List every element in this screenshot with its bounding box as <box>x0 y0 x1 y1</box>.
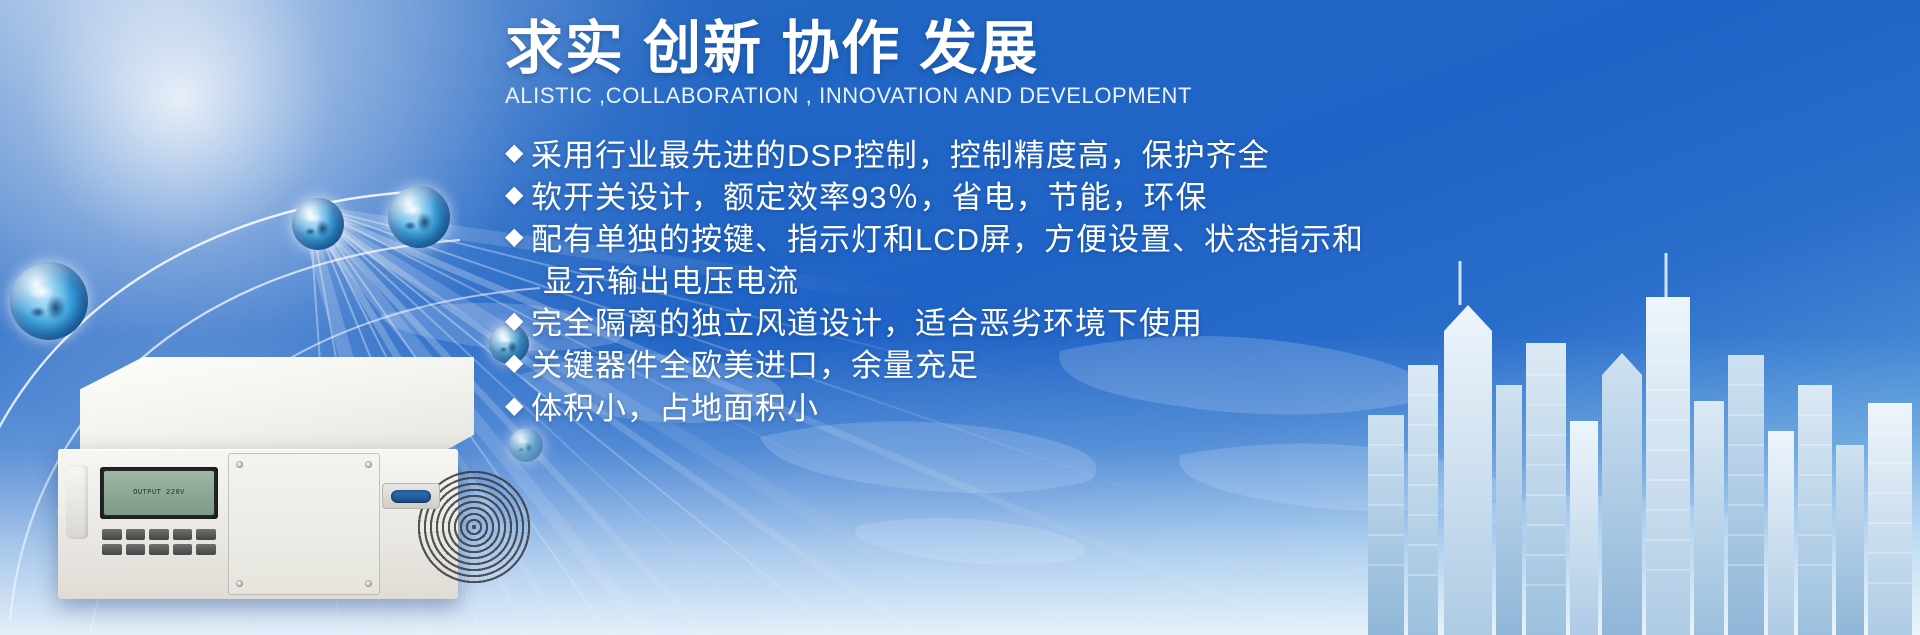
list-item-label: 配有单独的按键、指示灯和LCD屏，方便设置、状态指示和 <box>531 219 1364 261</box>
list-item: ◆完全隔离的独立风道设计，适合恶劣环境下使用 <box>505 303 1565 345</box>
list-item-label: 采用行业最先进的DSP控制，控制精度高，保护齐全 <box>531 135 1270 177</box>
keypad-key[interactable] <box>173 544 193 555</box>
list-item: ◆关键器件全欧美进口，余量充足 <box>505 345 1565 387</box>
list-item: ◆配有单独的按键、指示灯和LCD屏，方便设置、状态指示和 <box>505 219 1565 261</box>
list-item-label: 关键器件全欧美进口，余量充足 <box>531 345 979 387</box>
diamond-bullet-icon: ◆ <box>505 345 531 381</box>
diamond-bullet-icon: ◆ <box>505 219 531 255</box>
list-item: ◆显示输出电压电流 <box>505 261 1565 303</box>
keypad-key[interactable] <box>126 544 146 555</box>
keypad-key[interactable] <box>149 529 169 540</box>
keypad-key[interactable] <box>102 544 122 555</box>
screw-icon <box>236 580 243 587</box>
product-promo-banner: OUTPUT 220V 求实 创新 协作 发展 ALISTIC <box>0 0 1920 635</box>
list-item: ◆采用行业最先进的DSP控制，控制精度高，保护齐全 <box>505 135 1565 177</box>
keypad-key[interactable] <box>126 529 146 540</box>
list-item-label: 完全隔离的独立风道设计，适合恶劣环境下使用 <box>531 303 1203 345</box>
keypad[interactable] <box>102 529 216 555</box>
lcd-text: OUTPUT 220V <box>133 489 185 497</box>
feature-list: ◆采用行业最先进的DSP控制，控制精度高，保护齐全◆软开关设计，额定效率93％，… <box>505 135 1565 430</box>
page-subtitle: ALISTIC ,COLLABORATION , INNOVATION AND … <box>505 83 1565 109</box>
rackmount-power-device: OUTPUT 220V <box>58 357 478 607</box>
diamond-bullet-icon: ◆ <box>505 388 531 424</box>
list-item: ◆体积小，占地面积小 <box>505 388 1565 430</box>
banner-text-block: 求实 创新 协作 发展 ALISTIC ,COLLABORATION , INN… <box>505 18 1565 430</box>
globe-icon-mid <box>292 198 344 250</box>
globe-icon-top <box>388 186 450 248</box>
keypad-key[interactable] <box>196 544 216 555</box>
lcd-screen-bezel: OUTPUT 220V <box>100 467 218 519</box>
diamond-bullet-icon: ◆ <box>505 135 531 171</box>
keypad-key[interactable] <box>173 529 193 540</box>
list-item-label: 软开关设计，额定效率93％，省电，节能，环保 <box>531 177 1207 219</box>
diamond-bullet-icon: ◆ <box>505 177 531 213</box>
list-item: ◆软开关设计，额定效率93％，省电，节能，环保 <box>505 177 1565 219</box>
lcd-screen: OUTPUT 220V <box>104 471 214 515</box>
keypad-key[interactable] <box>102 529 122 540</box>
screw-icon <box>365 580 372 587</box>
screw-icon <box>365 461 372 468</box>
page-title: 求实 创新 协作 发展 <box>505 18 1565 81</box>
diamond-bullet-icon: ◆ <box>505 303 531 339</box>
device-handle <box>66 465 88 539</box>
device-front-panel: OUTPUT 220V <box>58 449 458 599</box>
globe-icon-left <box>10 262 88 340</box>
list-item-label: 显示输出电压电流 <box>531 261 799 303</box>
globe-icon-bottom <box>509 428 543 462</box>
screw-icon <box>236 461 243 468</box>
list-item-label: 体积小，占地面积小 <box>531 388 819 430</box>
keypad-key[interactable] <box>149 544 169 555</box>
keypad-key[interactable] <box>196 529 216 540</box>
fan-panel <box>228 453 380 595</box>
db9-serial-port <box>382 483 440 509</box>
